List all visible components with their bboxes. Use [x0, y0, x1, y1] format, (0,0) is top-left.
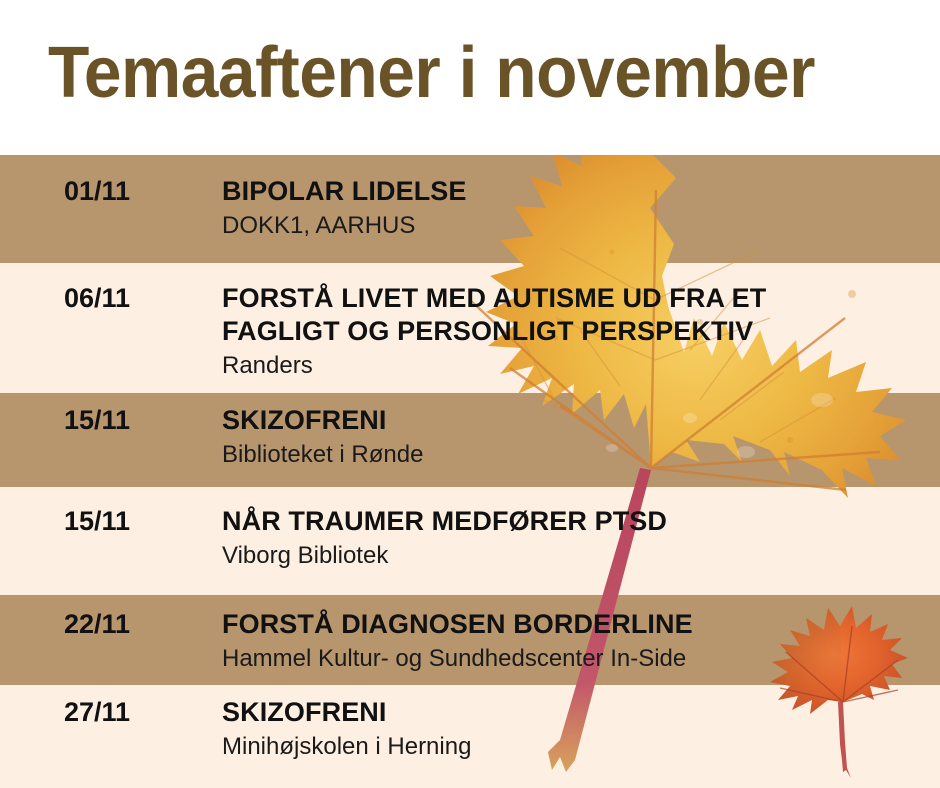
event-body: BIPOLAR LIDELSEDOKK1, AARHUS — [222, 175, 940, 241]
event-title-line: FAGLIGT OG PERSONLIGT PERSPEKTIV — [222, 315, 920, 348]
event-body: FORSTÅ LIVET MED AUTISME UD FRA ETFAGLIG… — [222, 282, 940, 381]
event-row[interactable]: 06/11FORSTÅ LIVET MED AUTISME UD FRA ETF… — [0, 282, 940, 381]
poster-canvas: Temaaftener i november — [0, 0, 940, 788]
event-date: 01/11 — [0, 175, 222, 207]
event-title: BIPOLAR LIDELSE — [222, 175, 920, 208]
page-title: Temaaftener i november — [48, 30, 815, 116]
event-title-line: NÅR TRAUMER MEDFØRER PTSD — [222, 505, 920, 538]
event-body: SKIZOFRENIBiblioteket i Rønde — [222, 404, 940, 470]
event-row[interactable]: 15/11SKIZOFRENIBiblioteket i Rønde — [0, 404, 940, 470]
event-row[interactable]: 27/11SKIZOFRENIMinihøjskolen i Herning — [0, 696, 940, 762]
event-location: DOKK1, AARHUS — [222, 211, 920, 241]
event-location: Randers — [222, 351, 920, 381]
event-date: 27/11 — [0, 696, 222, 728]
event-body: NÅR TRAUMER MEDFØRER PTSDViborg Bibliote… — [222, 505, 940, 571]
event-row[interactable]: 15/11NÅR TRAUMER MEDFØRER PTSDViborg Bib… — [0, 505, 940, 571]
event-title: NÅR TRAUMER MEDFØRER PTSD — [222, 505, 920, 538]
event-location: Viborg Bibliotek — [222, 541, 920, 571]
header-band: Temaaftener i november — [0, 0, 940, 155]
event-title: FORSTÅ DIAGNOSEN BORDERLINE — [222, 608, 920, 641]
event-location: Hammel Kultur- og Sundhedscenter In-Side — [222, 644, 920, 674]
event-title-line: FORSTÅ LIVET MED AUTISME UD FRA ET — [222, 282, 920, 315]
event-body: FORSTÅ DIAGNOSEN BORDERLINEHammel Kultur… — [222, 608, 940, 674]
event-date: 22/11 — [0, 608, 222, 640]
event-date: 15/11 — [0, 505, 222, 537]
event-date: 06/11 — [0, 282, 222, 314]
event-title: SKIZOFRENI — [222, 404, 920, 437]
event-body: SKIZOFRENIMinihøjskolen i Herning — [222, 696, 940, 762]
event-title-line: SKIZOFRENI — [222, 696, 920, 729]
event-title: SKIZOFRENI — [222, 696, 920, 729]
event-title-line: BIPOLAR LIDELSE — [222, 175, 920, 208]
event-title-line: SKIZOFRENI — [222, 404, 920, 437]
event-row[interactable]: 22/11FORSTÅ DIAGNOSEN BORDERLINEHammel K… — [0, 608, 940, 674]
event-location: Biblioteket i Rønde — [222, 440, 920, 470]
event-location: Minihøjskolen i Herning — [222, 732, 920, 762]
event-title: FORSTÅ LIVET MED AUTISME UD FRA ETFAGLIG… — [222, 282, 920, 348]
event-date: 15/11 — [0, 404, 222, 436]
event-title-line: FORSTÅ DIAGNOSEN BORDERLINE — [222, 608, 920, 641]
event-row[interactable]: 01/11BIPOLAR LIDELSEDOKK1, AARHUS — [0, 175, 940, 241]
